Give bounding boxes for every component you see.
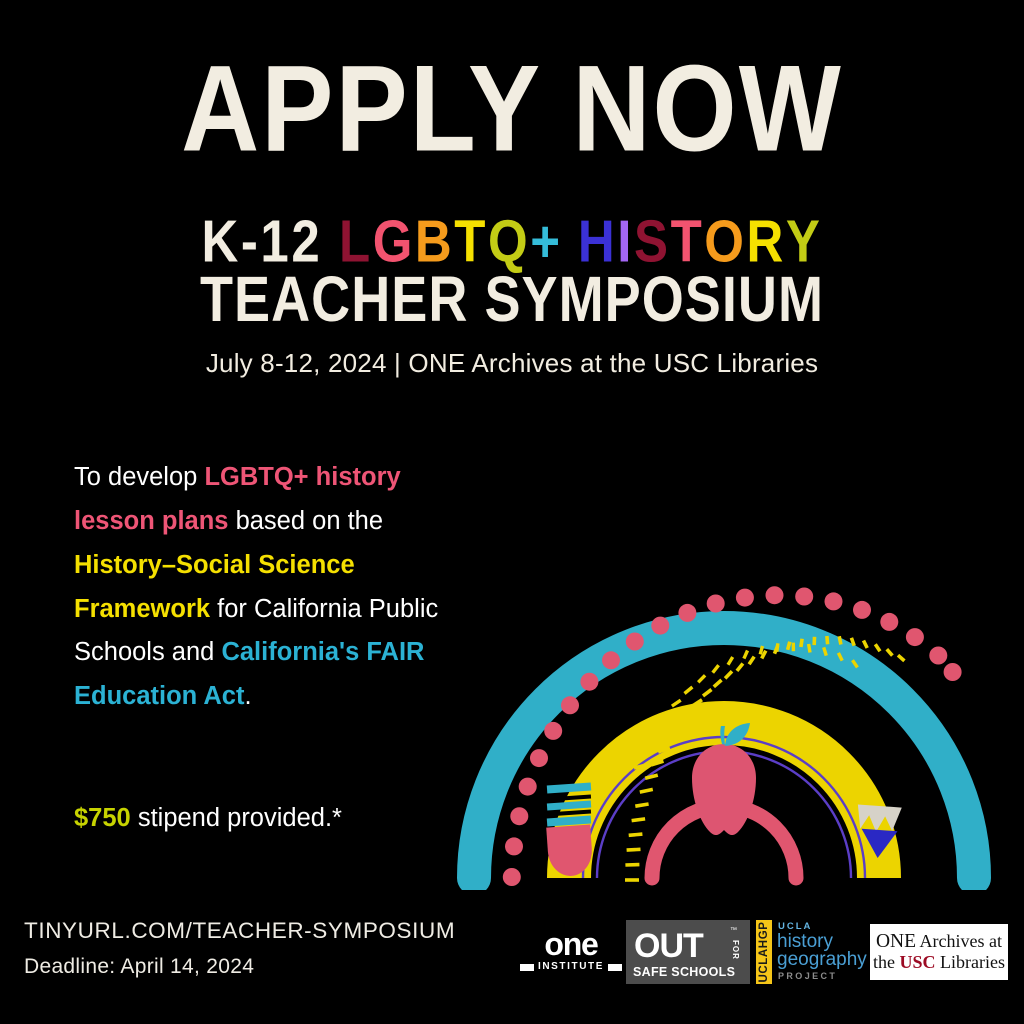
title-letter-y: Y [786, 212, 823, 271]
title-letter-r: R [747, 212, 786, 271]
out-safe-schools-label: SAFE SCHOOLS [633, 966, 735, 979]
logo-ucla-hgp[interactable]: UCLAHGP UCLA history geography PROJECT [756, 920, 862, 984]
out-for-label: FOR [731, 940, 740, 960]
geography-label: geography [777, 950, 867, 970]
rainbow-svg [448, 438, 1000, 890]
stipend-amount: $750 [74, 804, 131, 832]
bar-right-decoration [608, 964, 622, 971]
logo-strip: one INSTITUTE OUT ™ FOR SAFE SCHOOLS UCL… [512, 916, 1012, 988]
apple-body [692, 744, 756, 835]
title-prefix-k12: K-12 [202, 212, 323, 271]
title-letter-t: T [671, 212, 705, 271]
body-seg-3: based on the [228, 507, 383, 535]
one-institute-wordmark: one [520, 928, 622, 960]
title-letter-g: G [373, 212, 415, 271]
usc-logo-line-1: ONE Archives at [870, 931, 1008, 952]
title-letter-h: H [578, 212, 617, 271]
body-seg-7: . [244, 682, 251, 710]
body-seg-1: To develop [74, 463, 204, 491]
headline: APPLY NOW [0, 48, 1024, 171]
uclahgp-yellow-bar: UCLAHGP [756, 920, 772, 984]
title-letter-i: I [617, 212, 634, 271]
project-label: PROJECT [778, 971, 837, 981]
title-letter-t: T [454, 212, 488, 271]
stipend-rest: stipend provided.* [131, 804, 342, 832]
pencil-eraser-end [546, 782, 593, 877]
one-institute-subline: INSTITUTE [520, 962, 622, 972]
bar-left-decoration [520, 964, 534, 971]
title-line-2: TEACHER SYMPOSIUM [0, 268, 1024, 332]
body-copy: To develop LGBTQ+ history lesson plans b… [74, 456, 464, 719]
dateline: July 8-12, 2024 | ONE Archives at the US… [0, 348, 1024, 379]
title-letter-b: B [415, 212, 454, 271]
usc-logo-line-2: the USC Libraries [870, 952, 1008, 973]
usc-libraries-word: Libraries [936, 952, 1005, 972]
logo-out-safe-schools[interactable]: OUT ™ FOR SAFE SCHOOLS [626, 920, 750, 984]
trademark-icon: ™ [730, 927, 737, 934]
title-letter-+: + [530, 212, 562, 271]
title-line-1: K-12 LGBTQ+HISTORY [0, 212, 1024, 271]
out-wordmark: OUT [634, 929, 703, 963]
uclahgp-vertical-label: UCLAHGP [758, 921, 770, 982]
title-letter-l: L [339, 212, 373, 271]
logo-one-archives-usc[interactable]: ONE Archives at the USC Libraries [870, 924, 1008, 980]
application-url[interactable]: TINYURL.COM/TEACHER-SYMPOSIUM [24, 918, 455, 944]
one-institute-label: INSTITUTE [538, 962, 604, 972]
usc-archives-word: Archives at [916, 931, 1002, 951]
stipend-line: $750 stipend provided.* [74, 804, 494, 833]
logo-one-institute[interactable]: one INSTITUTE [520, 928, 622, 976]
usc-the-word: the [873, 952, 900, 972]
usc-one-word: ONE [876, 931, 916, 952]
usc-acronym: USC [900, 952, 936, 972]
deadline-text: Deadline: April 14, 2024 [24, 955, 254, 979]
title-letter-o: O [704, 212, 746, 271]
poster-canvas: APPLY NOW K-12 LGBTQ+HISTORY TEACHER SYM… [0, 0, 1024, 1024]
pencil-rainbow-illustration [448, 438, 1000, 890]
title-letter-q: Q [488, 212, 530, 271]
title-letter-s: S [634, 212, 671, 271]
